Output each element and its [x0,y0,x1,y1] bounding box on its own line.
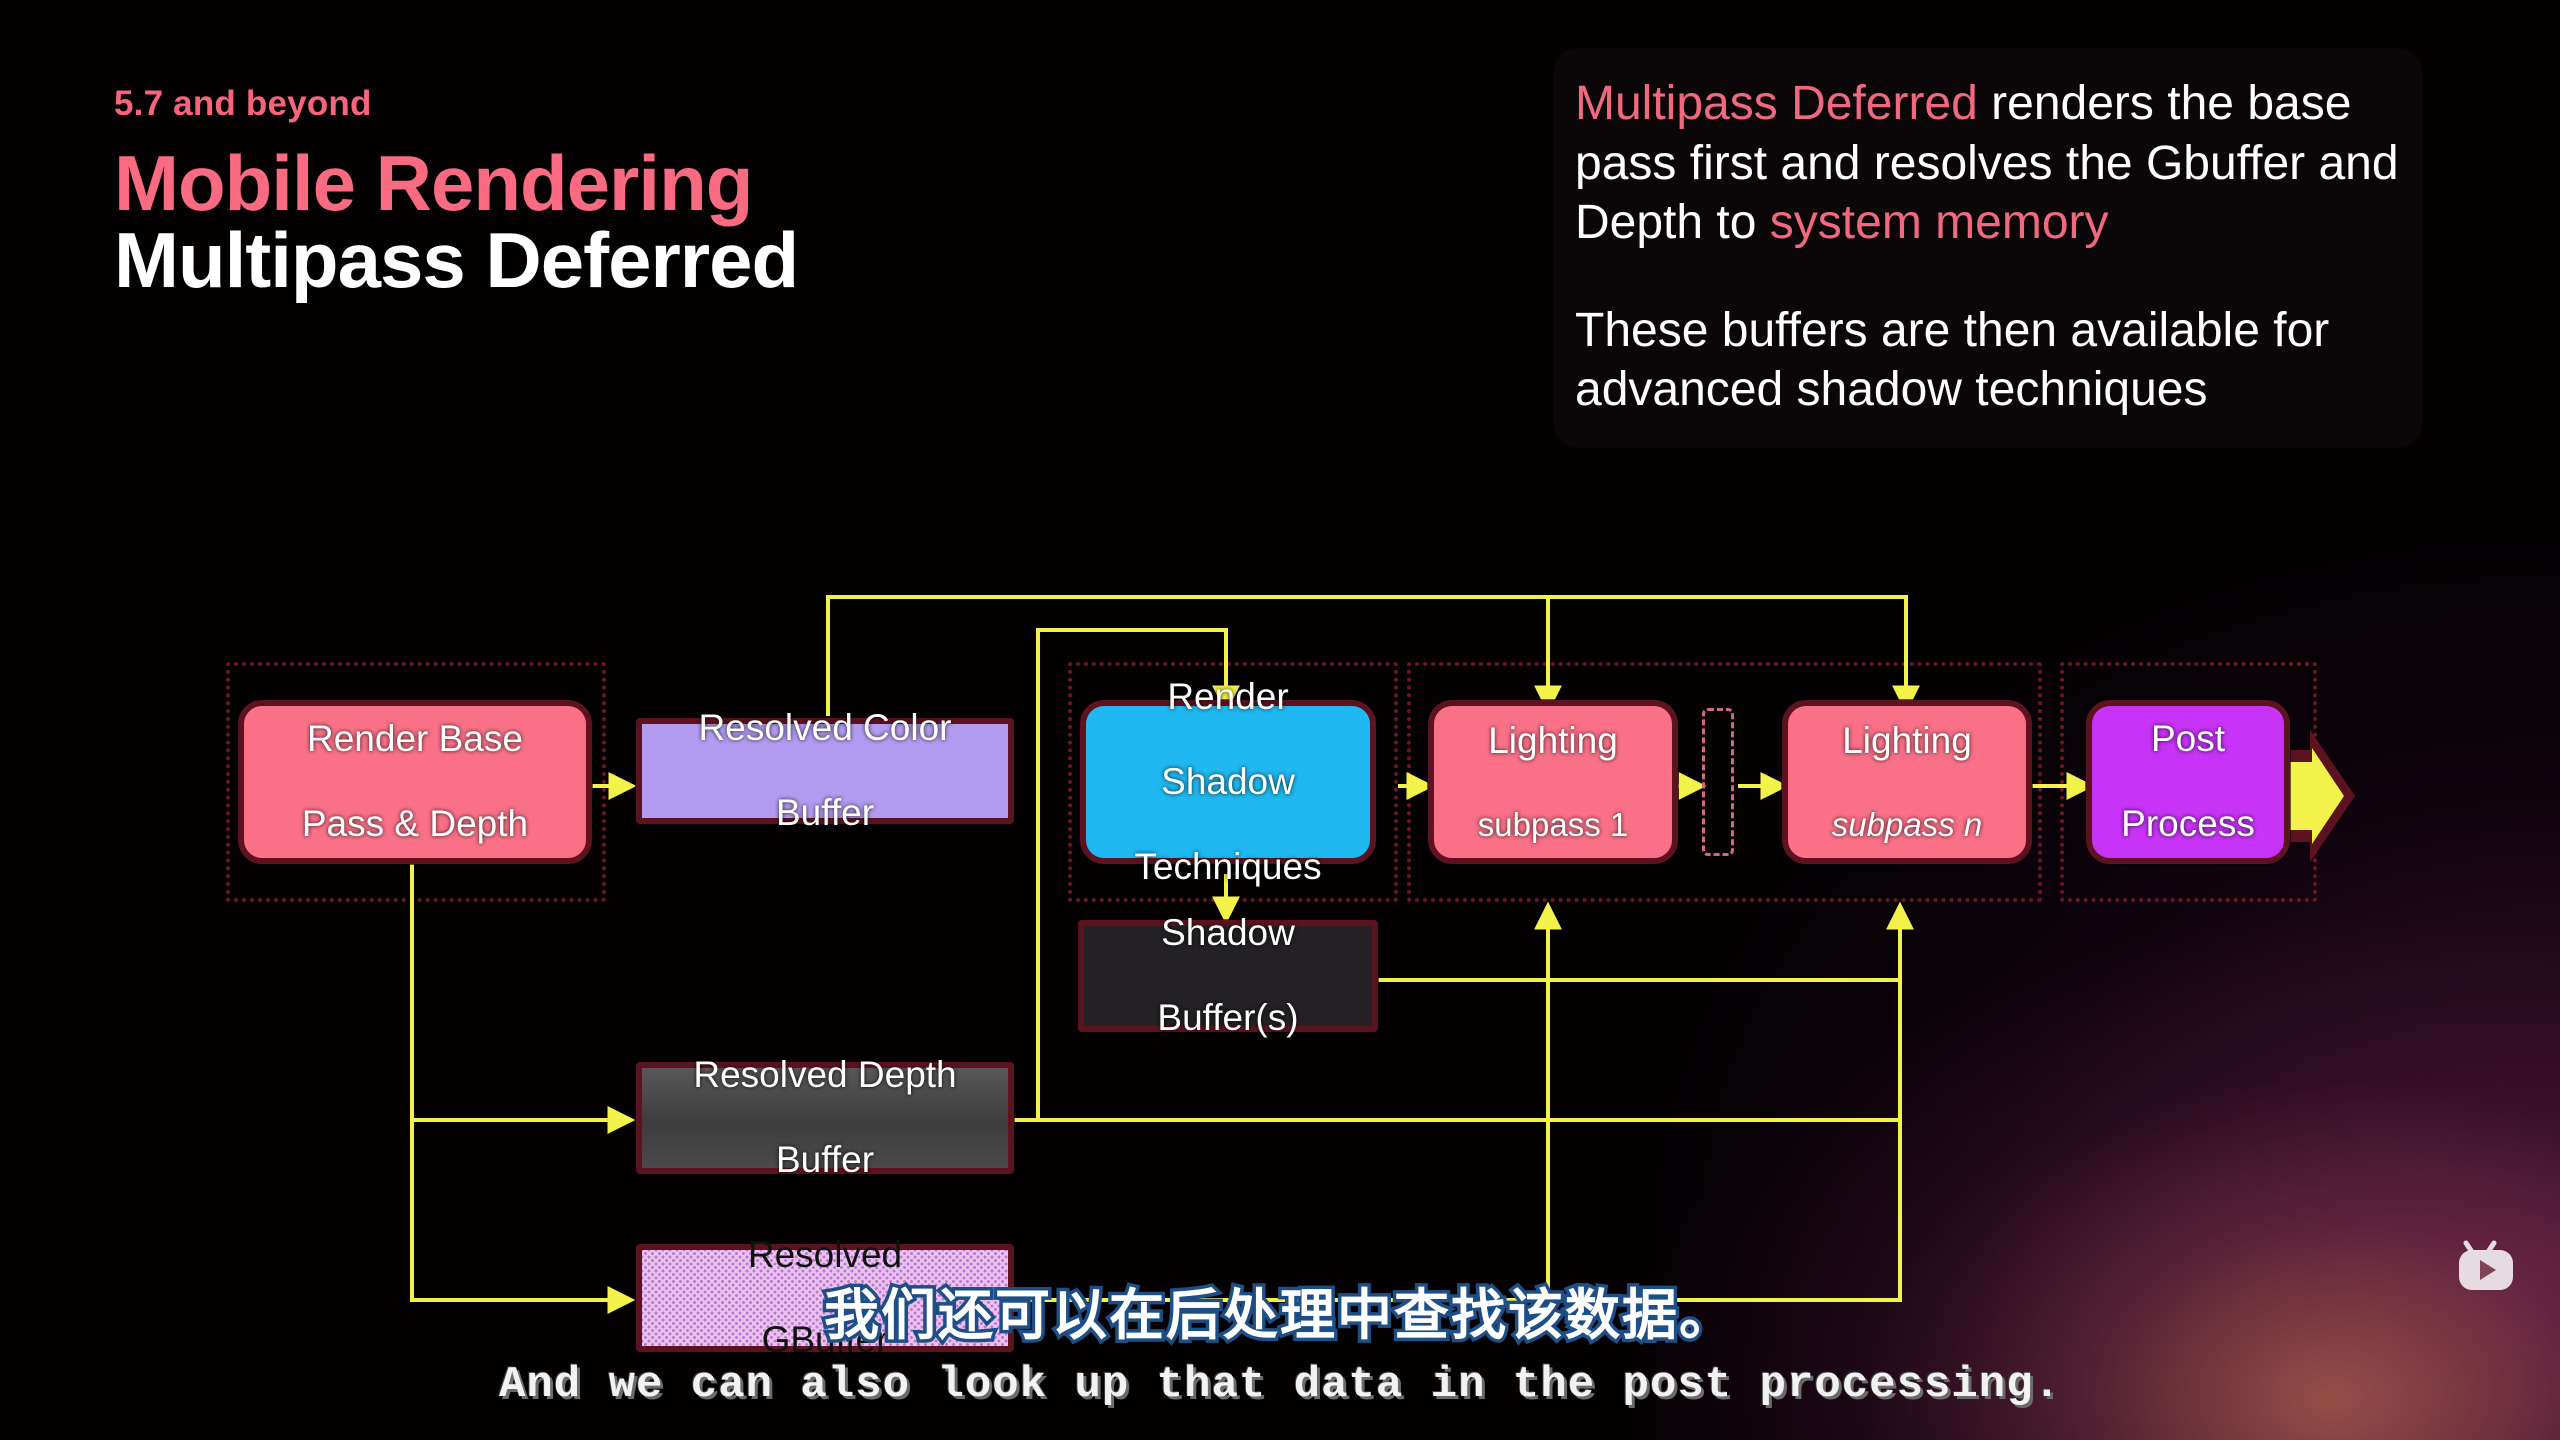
pipeline-exit-arrow [2280,730,2355,862]
node-render-shadow-techniques[interactable]: Render Shadow Techniques [1080,700,1376,864]
node-lighting-subpass-1[interactable]: Lighting subpass 1 [1428,700,1678,864]
label-line-1: Render Base [294,718,536,761]
label-line-2: Process [2113,803,2263,846]
node-resolved-color-buffer[interactable]: Resolved Color Buffer [636,718,1014,824]
label-line-2: Buffer [691,792,960,835]
node-shadow-buffers-label: Shadow Buffer(s) [1141,912,1314,1040]
label-line-3: Techniques [1126,846,1329,889]
node-render-shadow-techniques-label: Render Shadow Techniques [1118,676,1337,889]
node-lighting-subpass-n[interactable]: Lighting subpass n [1782,700,2032,864]
label-line-2: Buffer(s) [1149,997,1306,1040]
node-post-process[interactable]: Post Process [2086,700,2290,864]
node-render-base-pass[interactable]: Render Base Pass & Depth [238,700,592,864]
node-resolved-color-buffer-label: Resolved Color Buffer [683,707,968,835]
label-line-2: Pass & Depth [294,803,536,846]
node-lighting-subpass-n-label: Lighting subpass n [1816,720,1998,843]
node-resolved-depth-buffer-label: Resolved Depth Buffer [677,1054,972,1182]
subtitle-english: And we can also look up that data in the… [0,1360,2560,1410]
label-line-2: subpass n [1824,806,1990,844]
label-line-1: Shadow [1149,912,1306,955]
node-shadow-buffers[interactable]: Shadow Buffer(s) [1078,920,1378,1032]
subtitle-chinese: 我们还可以在后处理中查找该数据。 [0,1270,2560,1350]
label-line-1: Post [2113,718,2263,761]
label-line-2: Buffer [685,1139,964,1182]
tv-play-icon[interactable] [2455,1240,2517,1294]
label-line-1: Resolved Color [691,707,960,750]
label-line-1: Resolved Depth [685,1054,964,1097]
subtitle-area: 我们还可以在后处理中查找该数据。 And we can also look up… [0,1270,2560,1410]
label-line-2: Shadow [1126,761,1329,804]
lighting-subpass-ellipsis [1702,708,1734,856]
label-line-1: Render [1126,676,1329,719]
label-line-2: subpass 1 [1470,806,1636,844]
label-line-1: Lighting [1470,720,1636,763]
node-lighting-subpass-1-label: Lighting subpass 1 [1462,720,1644,843]
node-render-base-pass-label: Render Base Pass & Depth [286,718,544,846]
pipeline-diagram: Render Base Pass & Depth Resolved Color … [0,0,2560,1440]
label-line-1: Lighting [1824,720,1990,763]
node-post-process-label: Post Process [2105,718,2271,846]
node-resolved-depth-buffer[interactable]: Resolved Depth Buffer [636,1062,1014,1174]
